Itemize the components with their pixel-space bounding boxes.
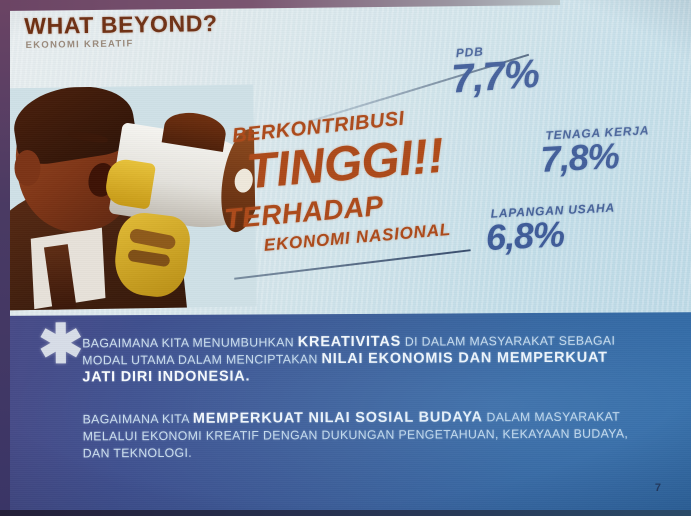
panel-paragraph-2: BAGAIMANA KITA MEMPERKUAT NILAI SOSIAL B… <box>83 408 643 462</box>
para1-text-1: BAGAIMANA KITA MENUMBUHKAN <box>82 335 298 350</box>
para1-bold-1: KREATIVITAS <box>298 334 401 351</box>
asterisk-icon: ✱ <box>38 327 78 367</box>
screen-edge-bottom <box>0 510 691 516</box>
page-subtitle: EKONOMI KREATIF <box>25 38 133 51</box>
slide-canvas: WHAT BEYOND? EKONOMI KREATIF <box>0 0 691 516</box>
page-title: WHAT BEYOND? <box>24 10 218 40</box>
para2-text-2: DALAM MASYARAKAT MELALUI EKONOMI KREATIF… <box>83 410 629 461</box>
headline-exclamation: !! <box>410 129 446 186</box>
stat-pdb-value: 7,7% <box>450 55 540 99</box>
para1-text-2: DI DALAM MASYARAKAT SEBAGAI MODAL UTAMA … <box>82 334 615 368</box>
stat-tenaga-kerja-value: 7,8% <box>540 137 651 177</box>
bottom-blue-panel: ✱ BAGAIMANA KITA MENUMBUHKAN KREATIVITAS… <box>0 312 691 516</box>
stat-lapangan-usaha-value: 6,8% <box>485 215 617 256</box>
stat-pdb: PDB 7,7% <box>449 41 540 99</box>
stat-lapangan-usaha: LAPANGAN USAHA 6,8% <box>484 201 617 256</box>
para2-text-1: BAGAIMANA KITA <box>83 412 193 427</box>
projected-slide-photo: WHAT BEYOND? EKONOMI KREATIF <box>0 0 691 516</box>
man-with-megaphone-photo <box>0 84 257 310</box>
stat-tenaga-kerja: TENAGA KERJA 7,8% <box>539 123 651 177</box>
para1-bold-2: NILAI EKONOMIS DAN MEMPERKUAT JATI DIRI … <box>82 350 608 386</box>
page-number: 7 <box>655 482 661 494</box>
screen-edge-left <box>0 0 10 516</box>
para2-bold-1: MEMPERKUAT NILAI SOSIAL BUDAYA <box>193 409 483 427</box>
ear-shape <box>14 150 41 186</box>
panel-paragraph-1: BAGAIMANA KITA MENUMBUHKAN KREATIVITAS D… <box>82 332 642 386</box>
